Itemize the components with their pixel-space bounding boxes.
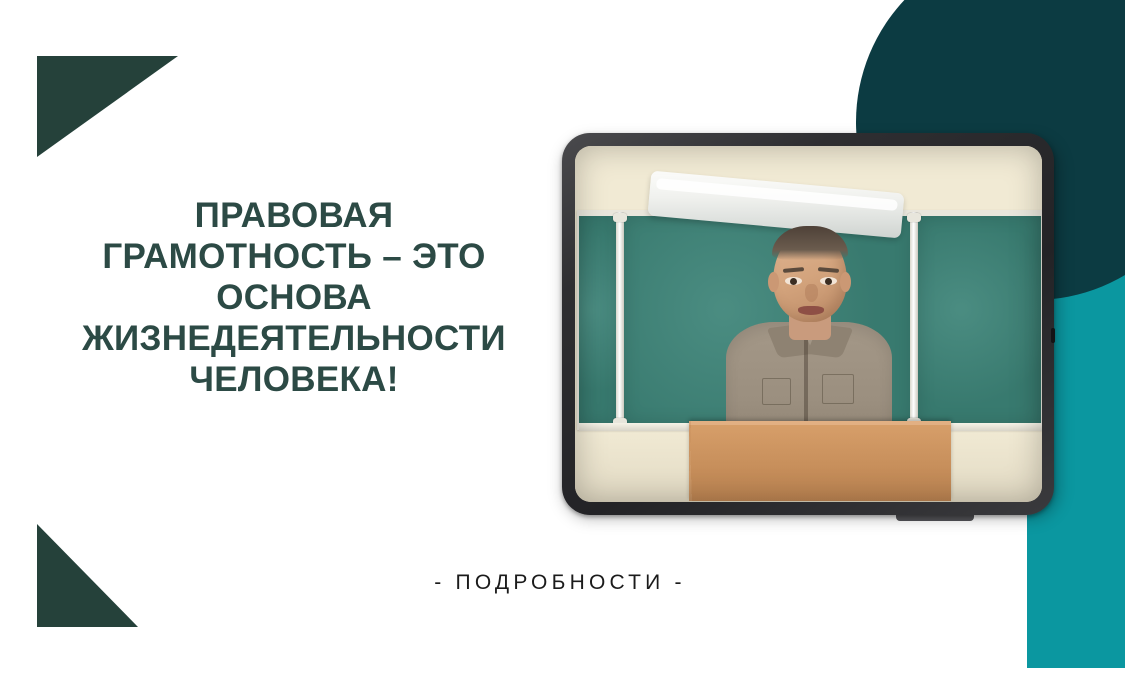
speaker-ear-right [840, 272, 851, 292]
speaker-hair [772, 226, 848, 260]
speaker-nose [805, 284, 818, 302]
tablet-power-button[interactable] [1051, 328, 1055, 343]
speaker-eye-right [820, 277, 837, 285]
speaker-eye-left [785, 277, 802, 285]
details-label[interactable]: - ПОДРОБНОСТИ - [300, 571, 820, 595]
tablet-foot [896, 514, 974, 521]
speaker-mouth [798, 306, 824, 315]
classroom-scene [575, 146, 1042, 502]
promo-banner: ПРАВОВАЯ ГРАМОТНОСТЬ – ЭТО ОСНОВА ЖИЗНЕД… [0, 0, 1125, 675]
triangle-bottom-left [37, 524, 138, 627]
scene-floor-shadow [575, 428, 1042, 502]
speaker-ear-left [768, 272, 779, 292]
tablet-frame [562, 133, 1054, 515]
tablet-screen[interactable] [575, 146, 1042, 502]
triangle-top-left [37, 56, 178, 157]
tablet-mockup [556, 128, 1060, 518]
page-title: ПРАВОВАЯ ГРАМОТНОСТЬ – ЭТО ОСНОВА ЖИЗНЕД… [16, 196, 572, 401]
